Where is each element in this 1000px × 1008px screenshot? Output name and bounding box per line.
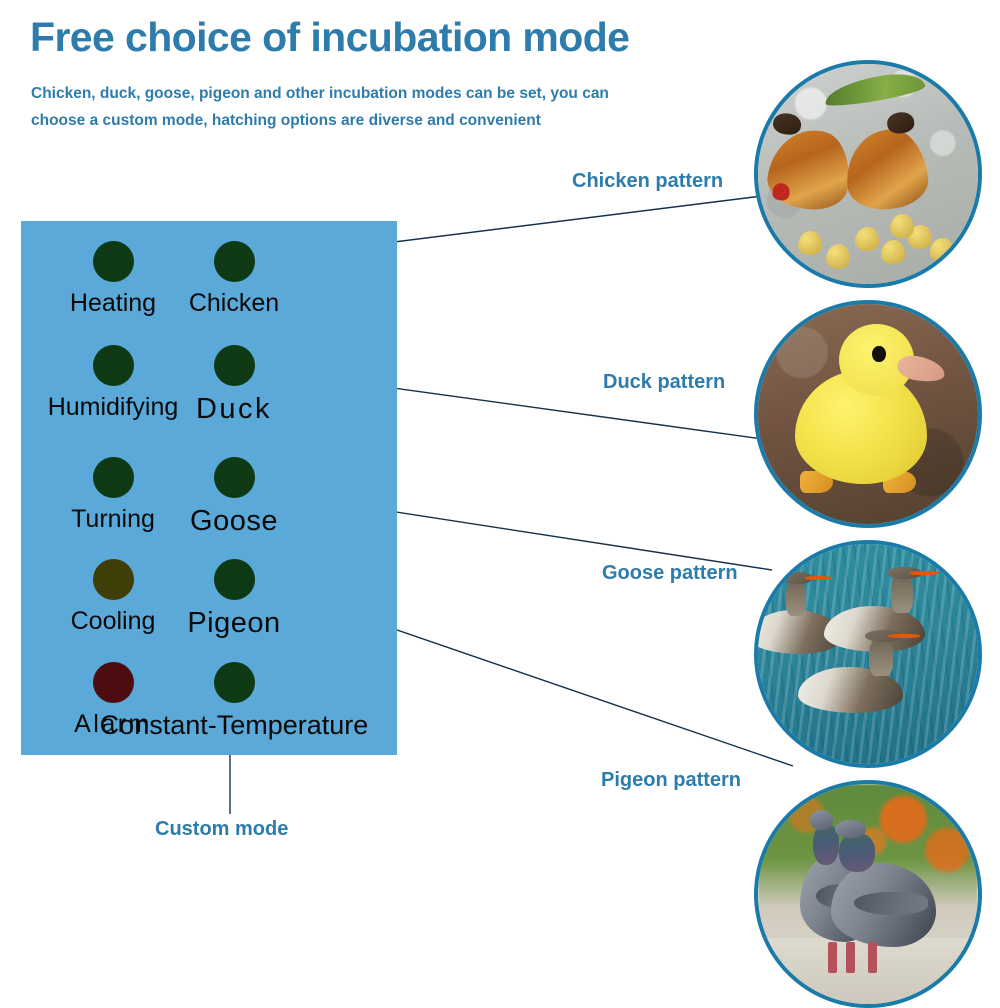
- led-label-cooling: Cooling: [71, 607, 156, 636]
- mode-label-pigeon: Pigeon: [187, 607, 280, 640]
- callout-label-custom-mode: Custom mode: [155, 818, 288, 841]
- led-label-turning: Turning: [71, 505, 155, 534]
- led-lamp-heating[interactable]: [93, 241, 134, 282]
- goose-photo-scene: [758, 544, 978, 764]
- led-lamp-duck[interactable]: [214, 345, 255, 386]
- led-lamp-goose[interactable]: [214, 457, 255, 498]
- led-lamp-alarm[interactable]: [93, 662, 134, 703]
- callout-label-pigeon: Pigeon pattern: [601, 769, 741, 792]
- callout-label-goose: Goose pattern: [602, 562, 738, 585]
- led-grid: Heating Humidifying Turning Cooling Alar…: [21, 221, 397, 755]
- page-title: Free choice of incubation mode: [30, 14, 629, 61]
- goose-photo: [754, 540, 982, 768]
- led-lamp-cooling[interactable]: [93, 559, 134, 600]
- led-lamp-turning[interactable]: [93, 457, 134, 498]
- mode-label-duck: Duck: [196, 393, 272, 426]
- page-subtitle: Chicken, duck, goose, pigeon and other i…: [31, 80, 651, 134]
- pigeon-photo-scene: [758, 784, 978, 1004]
- duck-photo: [754, 300, 982, 528]
- led-label-heating: Heating: [70, 289, 156, 318]
- led-lamp-pigeon[interactable]: [214, 559, 255, 600]
- mode-label-goose: Goose: [190, 505, 278, 538]
- chicken-photo: [754, 60, 982, 288]
- led-label-humidifying: Humidifying: [48, 393, 179, 422]
- callout-label-duck: Duck pattern: [603, 371, 725, 394]
- led-lamp-chicken[interactable]: [214, 241, 255, 282]
- duck-photo-scene: [758, 304, 978, 524]
- mode-label-constant-temperature: Constant-Temperature: [100, 710, 369, 741]
- led-lamp-constant-temperature[interactable]: [214, 662, 255, 703]
- chicken-photo-scene: [758, 64, 978, 284]
- pigeon-photo: [754, 780, 982, 1008]
- incubator-control-panel: Heating Humidifying Turning Cooling Alar…: [21, 221, 397, 755]
- mode-label-chicken: Chicken: [189, 289, 279, 318]
- led-lamp-humidifying[interactable]: [93, 345, 134, 386]
- callout-label-chicken: Chicken pattern: [572, 170, 723, 193]
